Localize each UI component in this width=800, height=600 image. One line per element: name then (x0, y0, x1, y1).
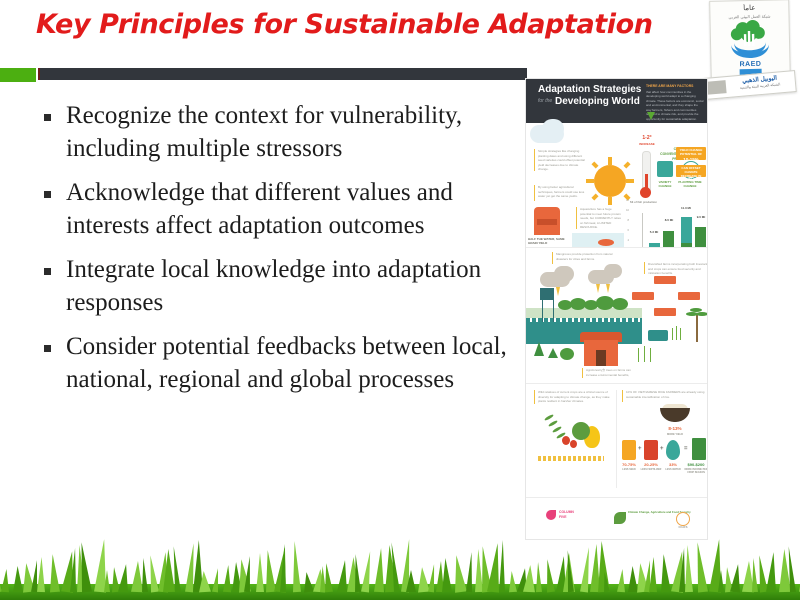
bar-value-2: 8.0 Mt (658, 218, 680, 222)
raed-arabic-title: عاماً (710, 3, 788, 13)
down-arrow-icon (647, 112, 655, 120)
infographic-section-crops: Simple strategies like changing planting… (526, 123, 707, 243)
column-five-name: COLUMN FIVE (559, 510, 574, 520)
list-item-label: Integrate local knowledge into adaptatio… (66, 254, 514, 319)
note-agroforestry: Agroforestry슬 trees on farms can increas… (582, 368, 638, 378)
dark-rule-bar (38, 68, 527, 80)
sun-ray (591, 161, 598, 168)
grass-blade (508, 571, 517, 592)
watchtower-legs (542, 300, 554, 322)
grass-blade (37, 557, 46, 592)
yield-change-tag: YIELD CHANGE POTENTIAL OF 10-15% (676, 147, 706, 160)
grass-blade (48, 554, 60, 593)
grass-blade (440, 558, 452, 592)
sun-icon (594, 165, 626, 197)
infographic-header: Adaptation Strategies for the Developing… (526, 79, 707, 123)
storm-cloud-icon (554, 266, 574, 282)
header-note-title: THERE ARE MANY FACTORS (646, 84, 704, 89)
note-mangroves: Mangroves provide protection from natura… (552, 252, 616, 264)
grass-blade (353, 554, 361, 592)
yield-change-tag-title: YIELD CHANGE POTENTIAL OF (676, 147, 706, 157)
lightning-icon (556, 287, 560, 296)
sun-ray (623, 161, 630, 168)
grass-blade (535, 562, 542, 592)
icon-label-planting-time: PLANTING TIME CHANGE (678, 181, 702, 189)
berry-icon (570, 440, 577, 448)
column-five-logo-icon (546, 510, 556, 520)
grass-clump (644, 346, 645, 362)
flow-node (632, 292, 654, 300)
grain-silo-icon (534, 207, 560, 235)
chart-ytick: 10 (621, 209, 629, 212)
sun-ray (586, 179, 594, 183)
grass-clump (672, 328, 673, 340)
mangrove-icon (612, 298, 628, 310)
stat-seed-label: LESS SEED (618, 468, 640, 471)
chart-title: Mt of fish production (630, 201, 670, 205)
wheat-leaf (548, 420, 558, 428)
grass-clump (680, 328, 681, 340)
infographic-section-coastal: Mangroves provide protection from natura… (526, 247, 707, 380)
grass-blade (684, 545, 693, 592)
stat-seed-value: 70-75% (618, 462, 640, 467)
plus-sign: + (660, 446, 664, 452)
list-item: Integrate local knowledge into adaptatio… (44, 254, 514, 319)
raed-arabic-subtitle: شبكة العمل البيئي العربي (710, 13, 788, 20)
thermometer-bulb (640, 187, 651, 198)
grass-blade (291, 541, 301, 592)
offset-tag: CAN OFFSET CLIMATE DECREASE IN YIELD (676, 165, 706, 177)
water-drop-icon (666, 440, 680, 460)
grass-clump (676, 326, 677, 340)
infographic-footer: COLUMN FIVE Climate Change, Agriculture … (526, 497, 707, 540)
pine-tree-icon (534, 342, 544, 356)
bar-value-1: 5.3 Mt (643, 230, 665, 234)
note-vietnamese-rice: 10% OF VIETNAMESE RICE FARMERS are alrea… (622, 390, 706, 402)
thermometer-label: INCREASE (630, 142, 664, 146)
bullet-square-icon (44, 345, 51, 352)
list-item: Consider potential feedbacks between loc… (44, 331, 514, 396)
barn-door (596, 350, 606, 366)
infographic-title-line2: Developing World (555, 96, 640, 107)
list-item: Recognize the context for vulnerability,… (44, 100, 514, 165)
grass-clump (638, 348, 639, 362)
raed-logo: عاماً شبكة العمل البيئي العربي RAED اليو… (704, 0, 796, 96)
rice-bowl-icon (660, 408, 690, 422)
grass-blade (406, 570, 416, 592)
livestock-icon (648, 330, 668, 341)
plus-sign: + (638, 446, 642, 452)
seed-container-icon (622, 440, 636, 460)
bar-value-3: 11.3 Mt (675, 206, 697, 210)
stat-fertilizer-label: LESS FERTILIZER (640, 468, 662, 471)
chart-ytick: 8 (621, 219, 629, 222)
raed-banner-tab (706, 80, 727, 95)
berry-icon (562, 436, 570, 445)
yield-change-tag-value: 10-15% (676, 157, 706, 162)
bullet-square-icon (44, 191, 51, 198)
apple-icon (572, 422, 590, 440)
equals-sign: = (684, 446, 688, 452)
grass-border (0, 536, 800, 600)
grass-clump (650, 348, 651, 362)
infographic-section-crops-stats: Wild relatives of current crops are a cr… (526, 383, 707, 494)
list-item-label: Acknowledge that different values and in… (66, 177, 514, 242)
palm-frond (690, 308, 702, 312)
bar-segment-aquaculture (681, 217, 692, 243)
silo-label: HALF THE WATER, SAME GRAIN YIELD (528, 237, 570, 245)
silo-band (537, 219, 557, 225)
partner-circle-icon (676, 512, 690, 526)
grass-blade (649, 557, 658, 592)
sun-ray (591, 193, 598, 200)
stat-income-value: $90-$200 (684, 462, 708, 467)
grass-blade (1, 569, 10, 592)
flow-node (654, 276, 676, 284)
flow-node (678, 292, 700, 300)
stat-water-value: 33% (662, 462, 684, 467)
fish-icon (598, 239, 614, 246)
bullet-square-icon (44, 268, 51, 275)
stat-yield-value: 8-13% (654, 426, 696, 431)
grass-blade (104, 570, 110, 592)
stat-fertilizer-value: 20-25% (640, 462, 662, 467)
cloud-icon (542, 119, 564, 139)
grass-blade (617, 569, 626, 592)
lightning-icon (596, 284, 600, 293)
palm-trunk (696, 314, 698, 342)
thermometer-fill (645, 174, 648, 188)
sun-ray (608, 157, 612, 165)
grass-blade (523, 565, 536, 593)
seed-variety-icon (657, 161, 673, 177)
infographic-header-note: THERE ARE MANY FACTORS that affect how c… (646, 84, 704, 114)
storm-cloud-icon (604, 264, 622, 278)
tree-in-hands-icon (725, 19, 776, 60)
wheat-leaf (552, 426, 562, 434)
bullet-square-icon (44, 114, 51, 121)
raed-wordmark: RAED (711, 60, 789, 69)
chart-ytick: 6 (621, 229, 629, 232)
column-five-line1: COLUMN (559, 510, 574, 514)
grass-blade (198, 571, 211, 593)
grass-blade (322, 563, 333, 593)
flow-node (654, 308, 676, 316)
grass-blade (659, 554, 671, 593)
column-five-line2: FIVE (559, 515, 567, 519)
offset-tag-title: CAN OFFSET CLIMATE DECREASE IN YIELD (676, 165, 706, 182)
ccafs-leaf-icon (614, 512, 626, 524)
section-divider (616, 390, 617, 488)
stat-yield-label: MORE YIELD (654, 433, 696, 436)
bullet-list: Recognize the context for vulnerability,… (44, 100, 514, 408)
barn-icon (584, 340, 618, 366)
list-item-label: Consider potential feedbacks between loc… (66, 331, 514, 396)
note-wild-relatives: Wild relatives of current crops are a cr… (534, 390, 614, 404)
note-planting-dates: Simple strategies like changing planting… (534, 149, 586, 171)
sun-ray (608, 197, 612, 205)
icon-label-variety: VARIETY CHANGE (654, 181, 676, 189)
stat-income-label: MORE INCOME PER CROP SEASON (684, 468, 708, 474)
note-diversified-farms: Diversified farms incorporating both liv… (644, 262, 708, 274)
chart-ytick: 4 (621, 239, 629, 242)
note-water-techniques: By using better agricultural techniques,… (534, 185, 586, 201)
money-icon (692, 438, 706, 460)
fertilizer-container-icon (644, 440, 658, 460)
bar-value-4: 9.0 Mt (690, 215, 708, 219)
sun-ray (626, 179, 634, 183)
palm-frond (696, 312, 708, 316)
page-title: Key Principles for Sustainable Adaptatio… (36, 4, 656, 46)
lightning-icon (606, 284, 610, 293)
wheat-leaf (544, 414, 554, 422)
green-accent-bar (0, 68, 36, 82)
infographic-title-line1: Adaptation Strategies (538, 84, 641, 95)
pine-tree-icon (548, 348, 558, 358)
chart-ytick: 12 (621, 199, 629, 202)
list-item-label: Recognize the context for vulnerability,… (66, 100, 514, 165)
list-item: Acknowledge that different values and in… (44, 177, 514, 242)
stat-water-label: LESS WATER (662, 468, 684, 471)
soil-line (538, 456, 604, 461)
grass-blade (499, 540, 506, 592)
thermometer-value: 1-2° (630, 135, 664, 141)
infographic-title-for: for the (538, 98, 552, 104)
watchtower-icon (540, 288, 554, 300)
bush-icon (560, 348, 574, 360)
note-aquaculture: Aquaculture has a huge potential to meet… (576, 207, 622, 229)
partner-name: CCAFS (672, 526, 694, 529)
adaptation-strategies-infographic: Adaptation Strategies for the Developing… (525, 78, 708, 540)
